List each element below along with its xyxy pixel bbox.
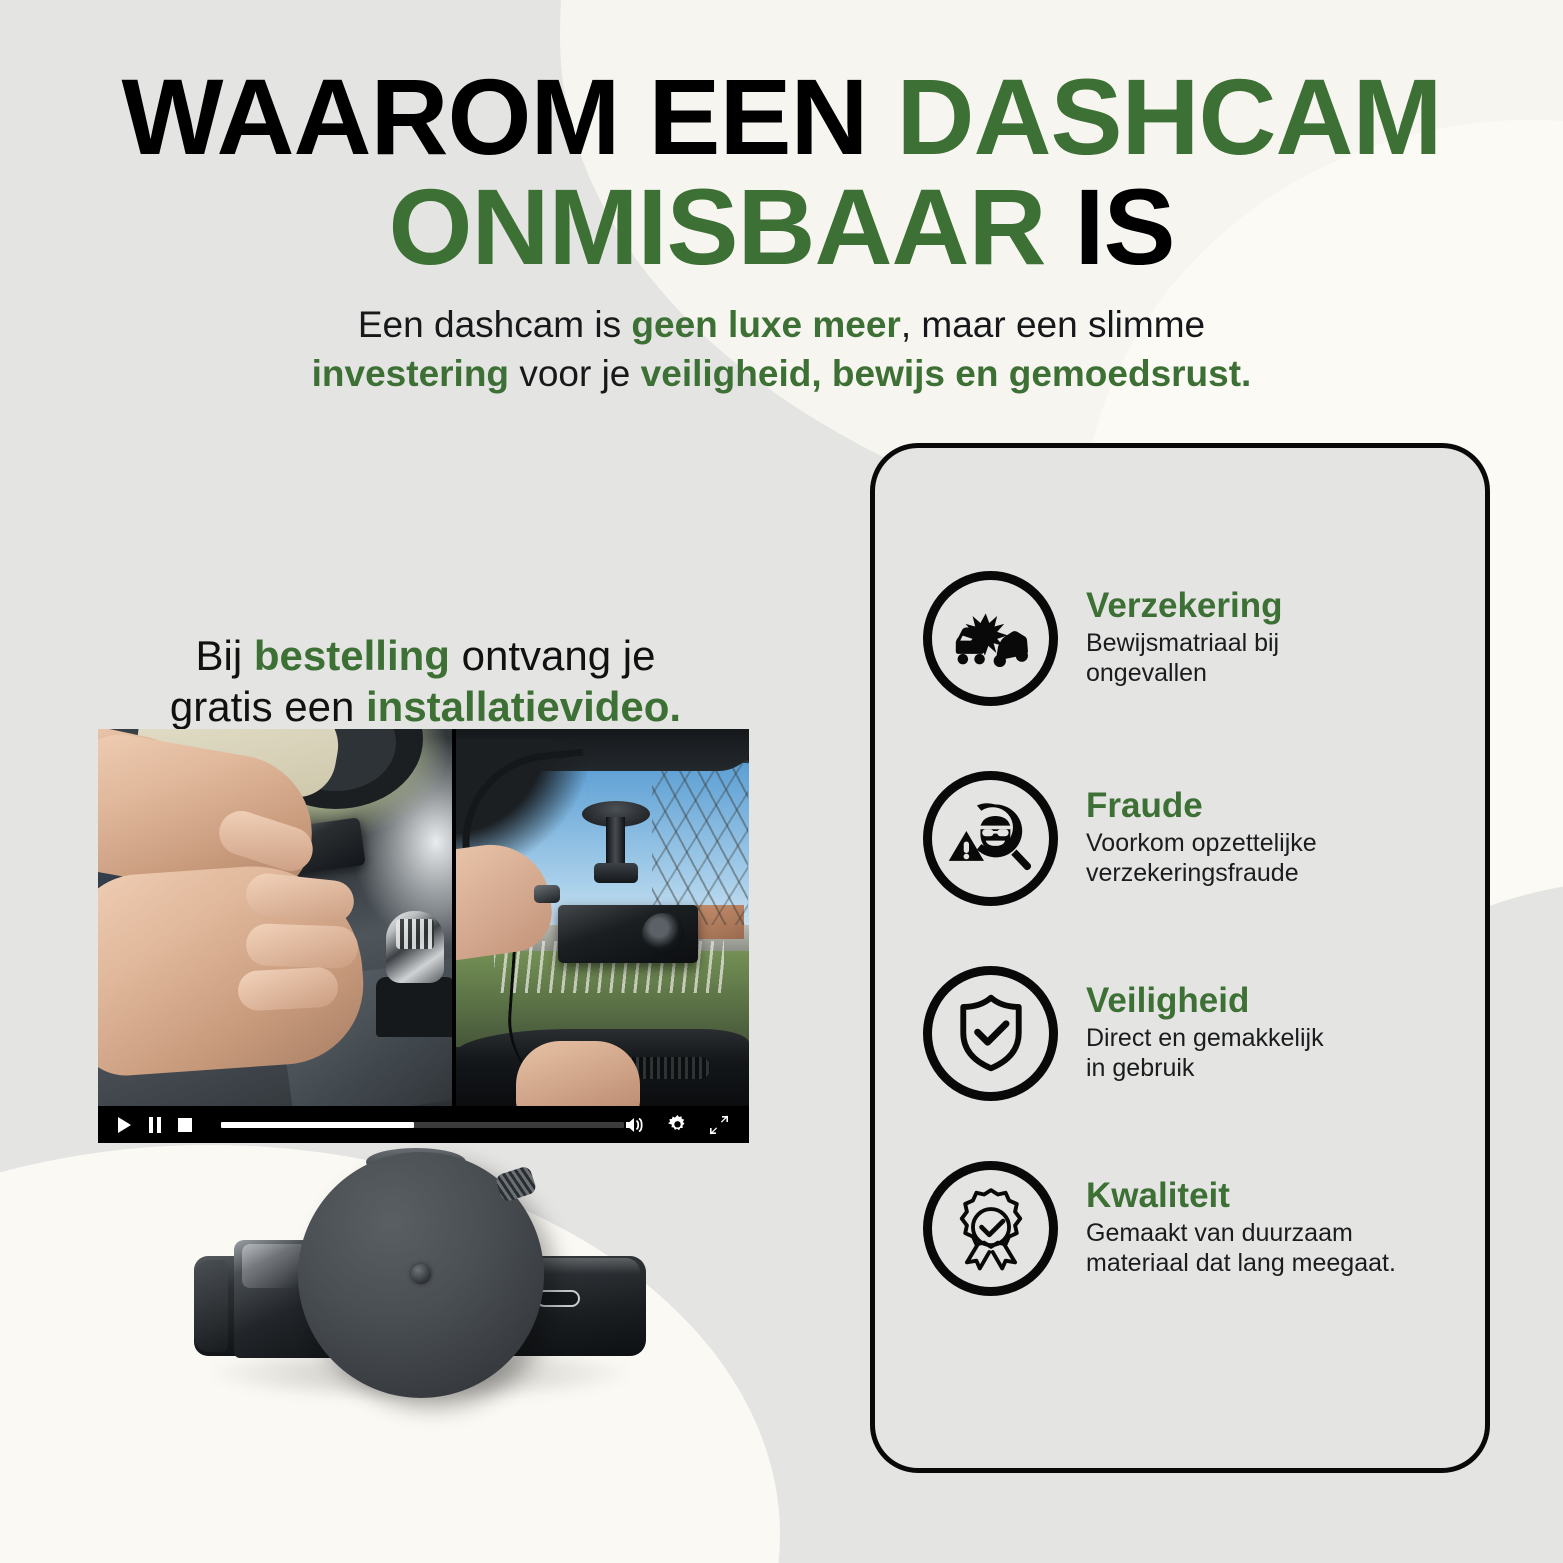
feature-title: Fraude xyxy=(1086,788,1317,825)
video-frames xyxy=(98,729,749,1106)
feature-title: Verzekering xyxy=(1086,588,1283,625)
subtitle-seg-1: Een dashcam is xyxy=(358,304,632,345)
video-frame-right xyxy=(454,729,749,1106)
subtitle-seg-6: veiligheid, bewijs en gemoedsrust. xyxy=(641,353,1252,394)
quality-badge-icon xyxy=(923,1161,1058,1296)
page-subtitle: Een dashcam is geen luxe meer, maar een … xyxy=(0,300,1563,398)
video-caption-seg-1: Bij xyxy=(196,632,254,679)
cable-plug xyxy=(534,885,560,903)
feature-title: Veiligheid xyxy=(1086,983,1324,1020)
video-caption: Bij bestelling ontvang je gratis een ins… xyxy=(98,630,753,732)
subtitle-seg-4: investering xyxy=(312,353,509,394)
video-caption-seg-4: gratis een xyxy=(170,683,366,730)
shield-check-icon xyxy=(923,966,1058,1101)
feature-list: Verzekering Bewijsmatriaal bij ongevalle… xyxy=(875,448,1485,1468)
headline-part-4: IS xyxy=(1074,166,1174,287)
gear-icon[interactable] xyxy=(668,1115,687,1134)
fraud-magnifier-icon xyxy=(923,771,1058,906)
feature-item-kwaliteit: Kwaliteit Gemaakt van duurzaam materiaal… xyxy=(923,1148,1453,1308)
hand-bottom xyxy=(516,1041,640,1106)
product-tighten-knob xyxy=(495,1165,538,1203)
product-end-cap xyxy=(194,1260,228,1352)
headline-part-1: WAAROM EEN xyxy=(122,56,897,177)
finger-3 xyxy=(245,923,358,969)
feature-text: Veiligheid Direct en gemakkelijk in gebr… xyxy=(1086,983,1324,1084)
feature-description: Direct en gemakkelijk in gebruik xyxy=(1086,1024,1324,1083)
mount-collar xyxy=(594,863,638,883)
feature-item-fraude: Fraude Voorkom opzettelijke verzekerings… xyxy=(923,758,1453,918)
mount-neck xyxy=(606,817,625,869)
gear-shifter xyxy=(386,911,444,983)
installation-video-player[interactable] xyxy=(98,729,749,1143)
video-controls xyxy=(98,1106,749,1143)
feature-description: Bewijsmatriaal bij ongevallen xyxy=(1086,629,1283,688)
pause-icon[interactable] xyxy=(146,1116,163,1134)
frame-divider xyxy=(452,729,456,1106)
tree xyxy=(652,755,748,925)
car-crash-icon xyxy=(923,571,1058,706)
feature-text: Fraude Voorkom opzettelijke verzekerings… xyxy=(1086,788,1317,889)
subtitle-seg-5: voor je xyxy=(509,353,641,394)
video-progress-bar[interactable] xyxy=(221,1122,624,1128)
feature-card: Verzekering Bewijsmatriaal bij ongevalle… xyxy=(870,443,1490,1473)
feature-description: Voorkom opzettelijke verzekeringsfraude xyxy=(1086,829,1317,888)
video-caption-seg-2: bestelling xyxy=(254,632,450,679)
shifter-boot xyxy=(376,977,454,1037)
fullscreen-icon[interactable] xyxy=(709,1115,729,1135)
finger-4 xyxy=(237,966,339,1011)
dashcam-lens xyxy=(642,913,684,955)
product-image xyxy=(168,1148,688,1458)
playback-buttons xyxy=(116,1116,193,1134)
volume-icon[interactable] xyxy=(624,1116,646,1134)
headline-part-2: DASHCAM xyxy=(897,56,1442,177)
stop-icon[interactable] xyxy=(176,1116,193,1134)
video-frame-left xyxy=(98,729,454,1106)
play-icon[interactable] xyxy=(116,1116,133,1134)
video-caption-seg-3: ontvang je xyxy=(450,632,656,679)
page-title: WAAROM EEN DASHCAM ONMISBAAR IS xyxy=(0,62,1563,282)
feature-item-verzekering: Verzekering Bewijsmatriaal bij ongevalle… xyxy=(923,558,1453,718)
video-progress-fill xyxy=(221,1122,414,1128)
feature-text: Verzekering Bewijsmatriaal bij ongevalle… xyxy=(1086,588,1283,689)
product-disc-hub xyxy=(411,1264,431,1284)
feature-item-veiligheid: Veiligheid Direct en gemakkelijk in gebr… xyxy=(923,953,1453,1113)
headline-part-3: ONMISBAAR xyxy=(388,166,1074,287)
feature-description: Gemaakt van duurzaam materiaal dat lang … xyxy=(1086,1219,1396,1278)
feature-title: Kwaliteit xyxy=(1086,1178,1396,1215)
video-options xyxy=(624,1115,729,1135)
subtitle-seg-3: , maar een slimme xyxy=(901,304,1205,345)
video-caption-seg-5: installatievideo. xyxy=(366,683,681,730)
feature-text: Kwaliteit Gemaakt van duurzaam materiaal… xyxy=(1086,1178,1396,1279)
subtitle-seg-2: geen luxe meer xyxy=(631,304,900,345)
